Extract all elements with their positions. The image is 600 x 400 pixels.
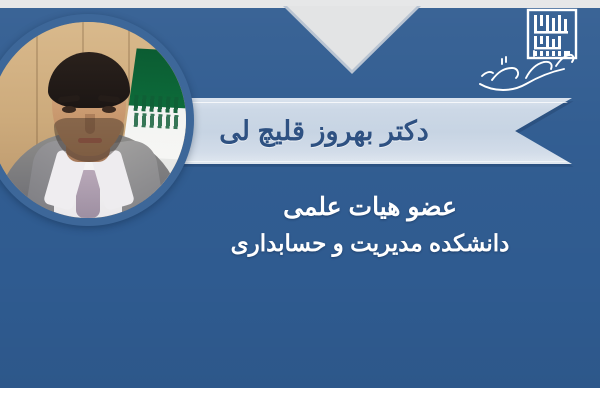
flag-kufic-band-top [134, 95, 181, 113]
logo-square-frame [528, 10, 576, 58]
subtitle-block: عضو هیات علمی دانشکده مدیریت و حسابداری [170, 190, 570, 259]
faculty-profile-card: دکتر بهروز قلیچ لی [0, 0, 600, 400]
avatar [0, 22, 186, 218]
eye-left [62, 106, 76, 113]
eye-right [102, 106, 116, 113]
avatar-scene [0, 22, 186, 218]
faculty-role: عضو هیات علمی [170, 190, 570, 225]
bottom-white-band [0, 388, 600, 400]
flag-kufic-band-bottom [134, 113, 181, 129]
university-logo [468, 6, 586, 98]
mouth [78, 138, 102, 143]
faculty-department: دانشکده مدیریت و حسابداری [170, 227, 570, 259]
